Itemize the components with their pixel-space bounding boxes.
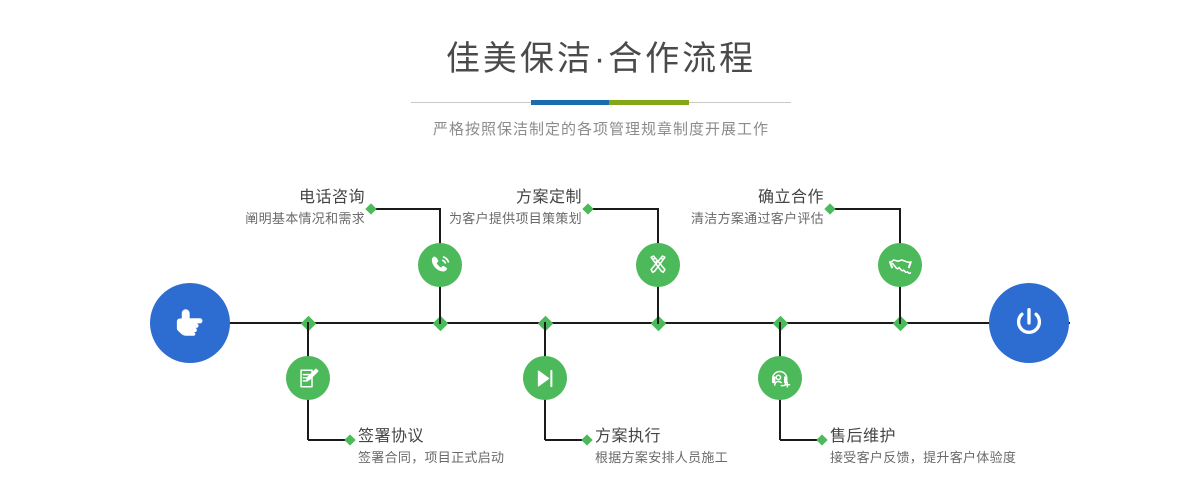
timeline-axis	[150, 322, 1070, 324]
connector-arm-step-6	[780, 439, 820, 441]
cooperation-flow-infographic: 佳美保洁·合作流程 严格按照保洁制定的各项管理规章制度开展工作	[0, 0, 1202, 502]
power-icon	[1009, 303, 1049, 343]
end-node[interactable]	[989, 283, 1069, 363]
timeline: 电话咨询 阐明基本情况和需求 方案定制 为客户提供项目策策划	[0, 0, 1202, 502]
node-icon-step-3[interactable]	[636, 243, 680, 287]
connector-tip-step-2	[344, 434, 355, 445]
node-icon-step-6[interactable]	[758, 356, 802, 400]
step-label-step-6: 售后维护 接受客户反馈，提升客户体验度	[830, 427, 1160, 467]
node-icon-step-4[interactable]	[523, 356, 567, 400]
step-label-step-5: 确立合作 清洁方案通过客户评估	[556, 188, 824, 228]
connector-arm-step-4	[545, 439, 585, 441]
node-icon-step-2[interactable]	[286, 356, 330, 400]
play-execute-icon	[533, 366, 558, 391]
handshake-icon	[887, 252, 914, 279]
step-title-step-5: 确立合作	[556, 188, 824, 207]
pencil-ruler-icon	[645, 252, 671, 278]
node-icon-step-1[interactable]	[418, 243, 462, 287]
pointing-hand-icon	[169, 302, 211, 344]
step-desc-step-6: 接受客户反馈，提升客户体验度	[830, 450, 1160, 467]
customer-service-icon	[768, 366, 793, 391]
connector-arm-step-5	[830, 208, 900, 210]
node-icon-step-5[interactable]	[878, 243, 922, 287]
step-title-step-3: 方案定制	[310, 188, 582, 207]
step-desc-step-3: 为客户提供项目策策划	[310, 211, 582, 228]
connector-tip-step-5	[824, 203, 835, 214]
connector-arm-step-2	[308, 439, 348, 441]
step-label-step-3: 方案定制 为客户提供项目策策划	[310, 188, 582, 228]
step-desc-step-5: 清洁方案通过客户评估	[556, 211, 824, 228]
phone-call-icon	[427, 252, 453, 278]
step-title-step-6: 售后维护	[830, 427, 1160, 446]
document-edit-icon	[296, 366, 321, 391]
start-node[interactable]	[150, 283, 230, 363]
